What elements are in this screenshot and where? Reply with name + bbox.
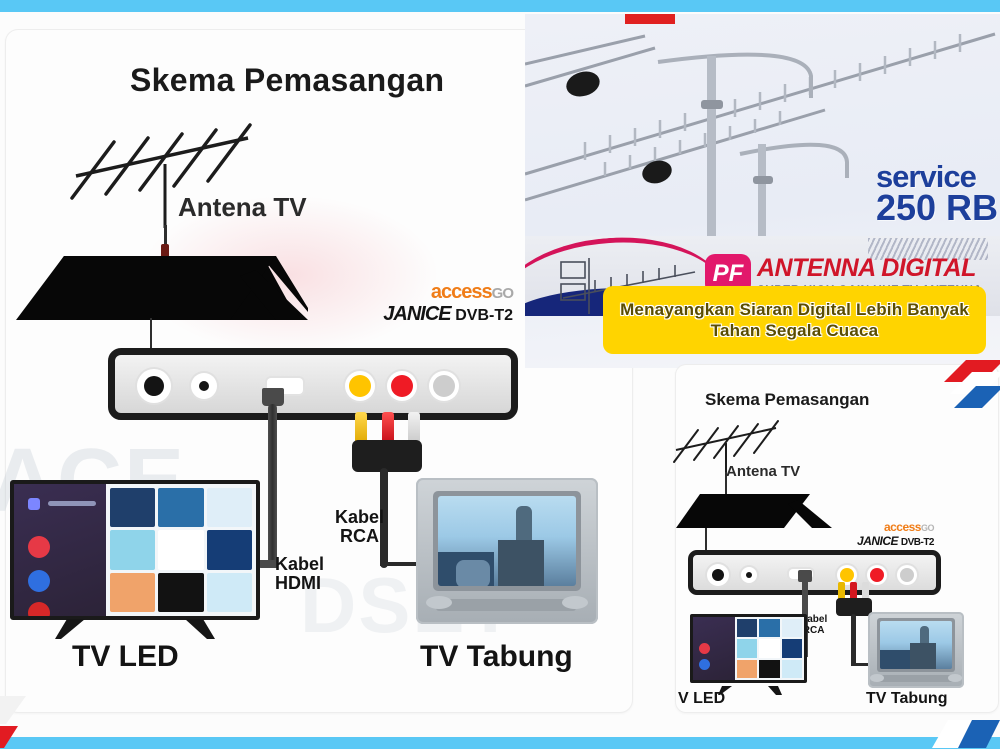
sub-port-rca-white-core [900, 568, 914, 582]
roof-shape [8, 250, 298, 322]
sub-page-title: Skema Pemasangan [705, 390, 869, 410]
sub-port-rca-yellow-core [840, 568, 854, 582]
sub-port-rca-red-core [870, 568, 884, 582]
sub-roof-shape [672, 490, 832, 537]
sub-tv-led-stand [718, 683, 782, 701]
sub-antenna-label: Antena TV [726, 463, 800, 480]
sub-brand-access-text: access [884, 520, 921, 534]
port-antenna-out-core [199, 381, 209, 391]
sub-dvb-receiver-box [688, 550, 941, 595]
sub-tv-led-image [690, 614, 807, 683]
sub-port-antenna-in-core [712, 569, 724, 581]
sub-tv-tabung-label: TV Tabung [866, 690, 947, 708]
brand-dvbt2-text: DVB-T2 [455, 307, 513, 324]
page-title: Skema Pemasangan [130, 62, 444, 99]
service-price: 250 RB [876, 191, 998, 225]
red-tab-marker [625, 14, 675, 24]
port-antenna-in-core [144, 376, 164, 396]
rca-cable-label: Kabel RCA [335, 508, 384, 547]
port-rca-white-core [433, 375, 455, 397]
port-rca-red-core [391, 375, 413, 397]
tv-tabung-speaker-right [562, 596, 588, 609]
sub-tv-led-label: V LED [678, 690, 725, 708]
sub-brand-go-text: GO [921, 523, 934, 533]
caption-line-2: Tahan Segala Cuaca [711, 320, 879, 341]
sub-rca-cable [851, 614, 856, 666]
tv-tabung-controls [436, 599, 576, 611]
hdmi-label-line2: HDMI [275, 574, 324, 593]
brand-access-text: access [431, 281, 492, 303]
rca-cable-bundle [352, 440, 422, 472]
antenna-label: Antena TV [178, 192, 307, 223]
pf-title: ANTENNA DIGITAL [757, 254, 976, 283]
tv-led-image [10, 480, 260, 620]
tv-tabung-image [416, 478, 598, 624]
brand-logo: accessGO JANICE DVB-T2 [338, 281, 513, 326]
rca-label-line2: RCA [335, 527, 384, 546]
bottom-accent-bar [0, 737, 1000, 749]
sub-brand-dvbt2-text: DVB-T2 [901, 537, 934, 548]
top-accent-bar [0, 0, 1000, 12]
dvb-receiver-box [108, 348, 518, 420]
hdmi-cable [268, 404, 277, 568]
poster-stage: ACE DSET Skema Pemasangan [0, 0, 1000, 749]
tv-led-stand [55, 619, 215, 641]
tv-led-label: TV LED [72, 640, 179, 674]
tv-tabung-label: TV Tabung [420, 640, 573, 674]
caption-line-1: Menayangkan Siaran Digital Lebih Banyak [620, 299, 969, 320]
brand-go-text: GO [492, 285, 513, 302]
brand-janice-text: JANICE [383, 303, 450, 325]
hdmi-cable-label: Kabel HDMI [275, 555, 324, 594]
sub-brand-janice-text: JANICE [857, 534, 898, 548]
rca-cable-run [380, 562, 420, 566]
service-price-badge: service 250 RB [876, 162, 998, 226]
tv-tabung-speaker-left [426, 596, 452, 609]
sub-hdmi-plug [798, 570, 812, 582]
sub-port-antenna-out-core [746, 572, 752, 578]
sub-tv-tabung-image [868, 612, 964, 688]
caption-banner: Menayangkan Siaran Digital Lebih Banyak … [603, 286, 986, 354]
rca-label-line1: Kabel [335, 508, 384, 527]
hdmi-label-line1: Kabel [275, 555, 324, 574]
sub-brand-logo: accessGO JANICE DVB-T2 [826, 520, 934, 548]
port-rca-yellow-core [349, 375, 371, 397]
